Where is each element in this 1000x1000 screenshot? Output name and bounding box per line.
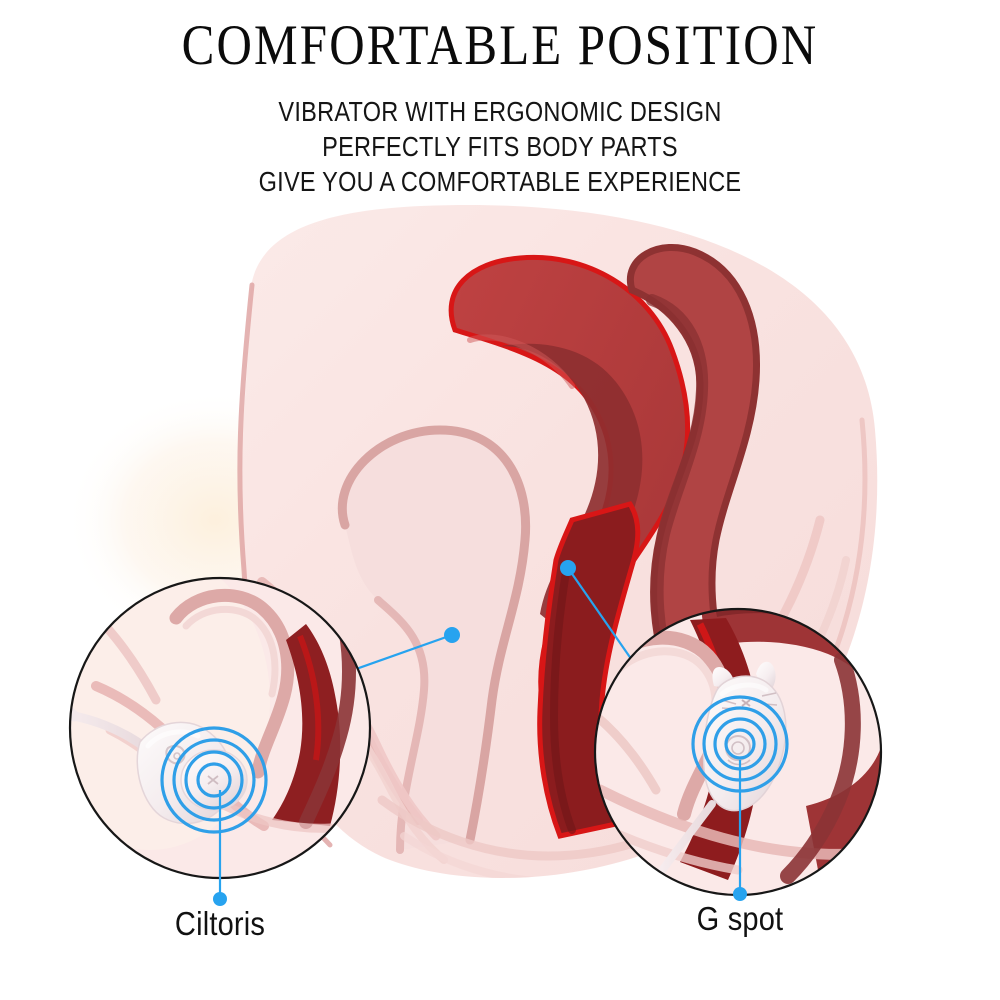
page-title: COMFORTABLE POSITION [70, 16, 930, 76]
poster-canvas: COMFORTABLE POSITION VIBRATOR WITH ERGON… [0, 0, 1000, 1000]
callout-label-clitoris: Ciltoris [97, 905, 343, 943]
leader-dot-gspot [733, 887, 747, 901]
pointer-dot-gspot [560, 560, 576, 576]
subtitle-block: VIBRATOR WITH ERGONOMIC DESIGN PERFECTLY… [0, 94, 1000, 199]
subtitle-line-2: PERFECTLY FITS BODY PARTS [80, 129, 920, 164]
leader-dot-clitoris [213, 892, 227, 906]
subtitle-line-3: GIVE YOU A COMFORTABLE EXPERIENCE [80, 164, 920, 199]
pointer-dot-clitoris [444, 627, 460, 643]
subtitle-line-1: VIBRATOR WITH ERGONOMIC DESIGN [80, 94, 920, 129]
callout-label-gspot: G spot [617, 900, 863, 938]
